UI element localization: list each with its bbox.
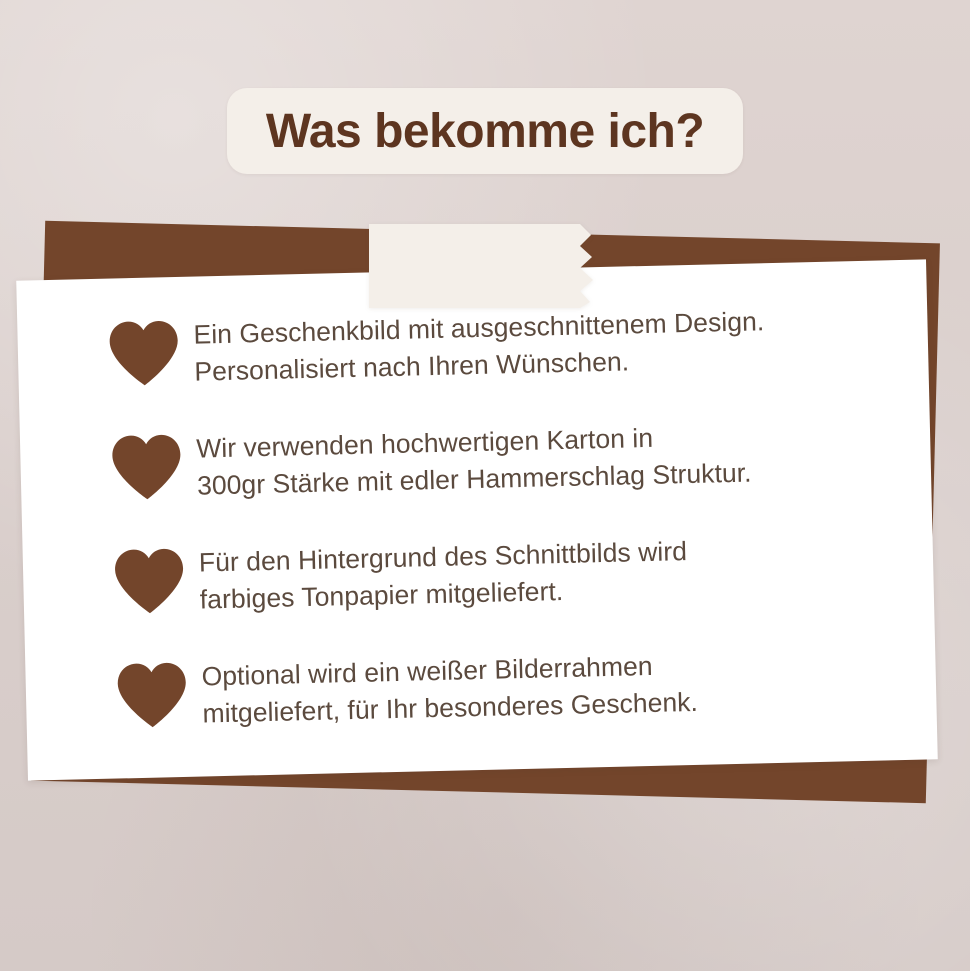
page-title: Was bekomme ich? xyxy=(266,104,704,159)
page-title-pill: Was bekomme ich? xyxy=(227,88,743,174)
list-item-text: Für den Hintergrund des Schnittbilds wir… xyxy=(198,526,904,619)
benefits-list: Ein Geschenkbild mit ausgeschnittenem De… xyxy=(16,259,938,780)
washi-tape-icon xyxy=(369,224,609,308)
slide-canvas: Was bekomme ich? Ein Geschenkbild mit au… xyxy=(0,0,970,971)
white-content-card: Ein Geschenkbild mit ausgeschnittenem De… xyxy=(16,259,938,780)
heart-icon xyxy=(107,315,181,387)
list-item-text: Wir verwenden hochwertigen Karton in 300… xyxy=(196,412,902,505)
list-item-text: Optional wird ein weißer Bilderrahmen mi… xyxy=(201,640,907,733)
heart-icon xyxy=(112,543,186,615)
list-item-text: Ein Geschenkbild mit ausgeschnittenem De… xyxy=(193,298,899,391)
heart-icon xyxy=(110,429,184,501)
list-item: Wir verwenden hochwertigen Karton in 300… xyxy=(110,412,902,507)
list-item: Optional wird ein weißer Bilderrahmen mi… xyxy=(115,640,907,735)
list-item: Für den Hintergrund des Schnittbilds wir… xyxy=(112,526,904,621)
heart-icon xyxy=(115,657,189,729)
list-item: Ein Geschenkbild mit ausgeschnittenem De… xyxy=(107,298,899,393)
